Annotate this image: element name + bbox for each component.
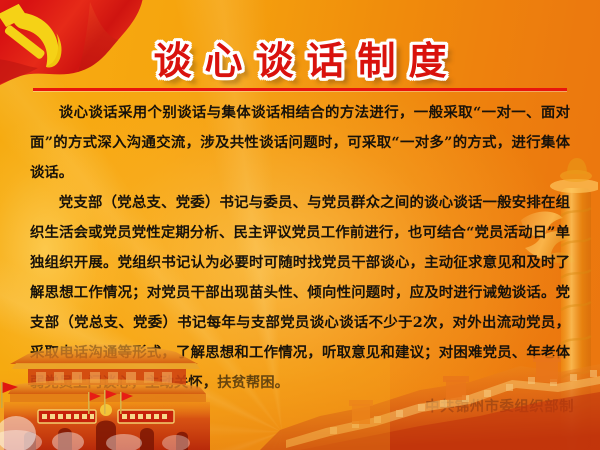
signoff-attribution: 中共锦州市委组织部制	[425, 395, 574, 416]
national-emblem-icon	[100, 404, 112, 416]
gate-archways	[24, 421, 188, 450]
gate-side-banner	[1, 382, 18, 408]
huabiao-lion	[567, 158, 587, 174]
hammer-head-icon	[0, 4, 27, 27]
paragraph-2: 党支部（党总支、党委）书记与委员、与党员群众之间的谈心谈话一般安排在组织生活会或…	[30, 188, 570, 398]
gate-plaque-left-text	[42, 414, 94, 419]
page-title: 谈心谈话制度	[0, 30, 600, 85]
poster-canvas: 谈心谈话制度 谈心谈话采用个别谈话与集体谈话相结合的方法进行，一般采取“一对一、…	[0, 0, 600, 450]
paragraph-1: 谈心谈话采用个别谈话与集体谈话相结合的方法进行，一般采取“一对一、面对面”的方式…	[30, 98, 570, 188]
body-text-block: 谈心谈话采用个别谈话与集体谈话相结合的方法进行，一般采取“一对一、面对面”的方式…	[30, 98, 570, 398]
gate-plaques	[38, 410, 174, 423]
gate-fountains	[0, 416, 190, 450]
gate-wall	[4, 402, 210, 450]
title-divider	[33, 88, 567, 91]
gate-plaque-right-text	[122, 414, 167, 419]
